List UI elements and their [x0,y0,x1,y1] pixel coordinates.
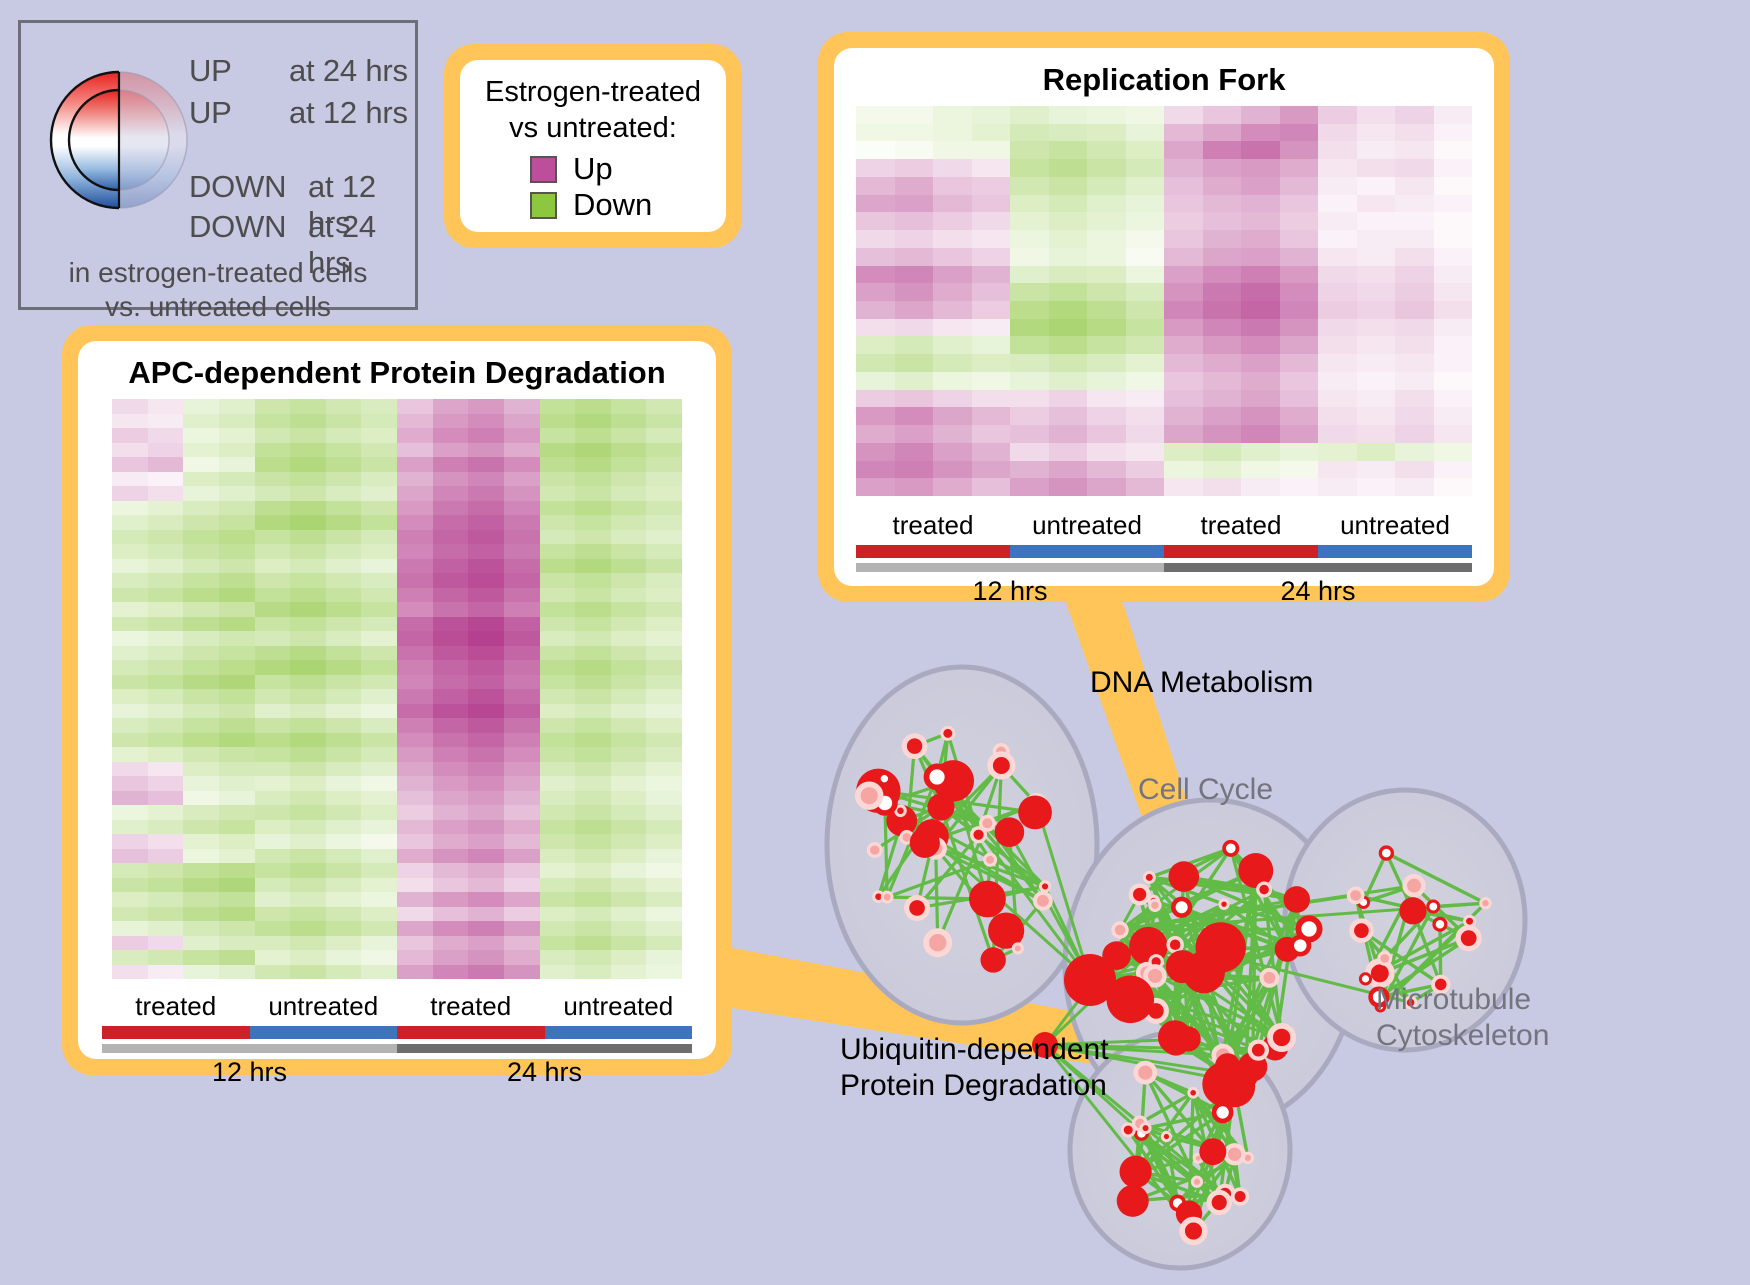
heatmap-cell [433,559,469,574]
heatmap-cell [255,747,291,762]
heatmap-cell [1203,390,1242,408]
heatmap-cell [326,617,362,632]
heatmap-cell [290,472,326,487]
heatmap-cell [219,747,255,762]
heatmap-cell [1126,425,1165,443]
heatmap-cell [1049,266,1088,284]
heatmap-cell [112,675,148,690]
heatmap-cell [183,660,219,675]
cluster-label-dna-metabolism: DNA Metabolism [1090,665,1313,701]
heatmap-cell [1318,372,1357,390]
condition-bar-segment [397,1026,545,1039]
heatmap-cell [255,762,291,777]
heatmap-cell [895,443,934,461]
heatmap-cell [1087,478,1126,496]
heatmap-cell [397,617,433,632]
heatmap-cell [646,486,682,501]
condition-bar-segment [545,1026,693,1039]
heatmap-cell [504,689,540,704]
heatmap-cell [1434,283,1473,301]
heatmap-cell [326,414,362,429]
network-node[interactable] [1434,918,1446,930]
network-node[interactable] [1158,1020,1192,1054]
heatmap-cell [646,776,682,791]
heatmap-cell [646,718,682,733]
network-node[interactable] [1399,897,1426,924]
heatmap-cell [219,892,255,907]
heatmap-cell [933,354,972,372]
network-node[interactable] [910,828,940,858]
heatmap-cell [972,266,1011,284]
network-node[interactable] [1131,886,1149,904]
heatmap-cell [646,588,682,603]
heatmap-cell [361,762,397,777]
heatmap-cell [112,617,148,632]
heatmap-cell [361,414,397,429]
heatmap-cell [148,530,184,545]
network-node[interactable] [1214,1104,1231,1121]
heatmap-cell [183,544,219,559]
heatmap-cell [255,602,291,617]
network-node[interactable] [942,727,954,739]
heatmap-cell [611,747,647,762]
heatmap-cell [290,820,326,835]
legend-title-line-1: Estrogen-treated [470,74,716,110]
heatmap-cell [1164,390,1203,408]
network-node[interactable] [1380,847,1392,859]
heatmap-cell [933,283,972,301]
heatmap-cell [397,675,433,690]
heatmap-cell [611,689,647,704]
heatmap-cell [1241,195,1280,213]
network-node[interactable] [926,931,949,954]
heatmap-cell [326,631,362,646]
heatmap-cell [1010,106,1049,124]
heatmap-cell [468,878,504,893]
heatmap-cell [895,372,934,390]
heatmap-cell [611,472,647,487]
network-node[interactable] [1144,872,1154,882]
heatmap-cell [326,457,362,472]
heatmap-cell [1049,283,1088,301]
network-node[interactable] [1146,966,1165,985]
heatmap-cell [361,747,397,762]
legend-item-down-label: Down [573,188,652,222]
heatmap-cell [1049,301,1088,319]
heatmap-cell [1010,195,1049,213]
heatmap-cell [148,559,184,574]
heatmap-cell [1357,319,1396,337]
network-node[interactable] [980,947,1005,972]
heatmap-cell [255,878,291,893]
heatmap-cell [183,733,219,748]
condition-label: treated [102,991,250,1022]
network-node[interactable] [1352,921,1372,941]
heatmap-cell [290,805,326,820]
network-node[interactable] [995,817,1025,847]
heatmap-cell [326,718,362,733]
heatmap-cell [326,486,362,501]
heatmap-cell [1087,407,1126,425]
network-node[interactable] [1196,922,1246,972]
heatmap-cell [112,515,148,530]
heatmap-cell [972,390,1011,408]
heatmap-cell [361,660,397,675]
network-node[interactable] [1292,937,1309,954]
heatmap-cell [1203,248,1242,266]
heatmap-cell [611,849,647,864]
heatmap-cell [433,965,469,980]
network-node[interactable] [1458,928,1479,949]
network-node[interactable] [927,766,948,787]
heatmap-cell [361,892,397,907]
network-node[interactable] [1220,900,1228,908]
heatmap-cell [1049,319,1088,337]
heatmap-cell [255,791,291,806]
network-node[interactable] [896,806,906,816]
network-node[interactable] [1141,1124,1150,1133]
heatmap-cell [290,950,326,965]
heatmap-cell [575,544,611,559]
heatmap-cell [397,689,433,704]
heatmap-cell [433,689,469,704]
heatmap-cell [1357,390,1396,408]
heatmap-cell [326,472,362,487]
heatmap-cell [219,936,255,951]
heatmap-cell [575,733,611,748]
heatmap-cell [575,965,611,980]
heatmap-cell [1087,425,1126,443]
network-node[interactable] [1261,970,1277,986]
network-node[interactable] [904,736,925,757]
heatmap-cell [183,776,219,791]
network-node[interactable] [1283,886,1310,913]
heatmap-cell [255,820,291,835]
heatmap-cell [1434,230,1473,248]
heatmap-cell [361,718,397,733]
network-node[interactable] [990,754,1013,777]
network-node[interactable] [1226,1145,1244,1163]
network-node[interactable] [1182,1220,1205,1243]
condition-label: untreated [545,991,693,1022]
heatmap-cell [397,718,433,733]
heatmap-cell [326,805,362,820]
network-node[interactable] [1173,899,1190,916]
heatmap-cell [361,936,397,951]
network-node[interactable] [1199,1138,1226,1165]
heatmap-cell [290,878,326,893]
down-swatch-icon [530,192,557,219]
heatmap-cell [361,950,397,965]
heatmap-cell [468,631,504,646]
heatmap-cell [540,399,576,414]
heatmap-cell [856,478,895,496]
time-bar-segment [102,1044,397,1053]
network-node[interactable] [868,844,881,857]
heatmap-cell [1049,336,1088,354]
network-node[interactable] [1136,1063,1155,1082]
network-node[interactable] [1166,950,1199,983]
heatmap-cell [148,936,184,951]
heatmap-cell [433,820,469,835]
network-node[interactable] [879,773,889,783]
network-node[interactable] [1040,882,1049,891]
network-node[interactable] [1113,923,1127,937]
network-node[interactable] [1379,952,1391,964]
heatmap-cell [326,602,362,617]
heatmap-cell [112,486,148,501]
network-node[interactable] [1035,893,1051,909]
network-node[interactable] [882,892,892,902]
network-node[interactable] [1120,1156,1152,1188]
apc-degradation-panel: APC-dependent Protein Degradation treate… [62,325,732,1075]
heatmap-cell [326,530,362,545]
heatmap-cell [1010,124,1049,142]
heatmap-cell [1203,195,1242,213]
heatmap-cell [1280,443,1319,461]
heatmap-cell [148,399,184,414]
heatmap-cell [112,457,148,472]
heatmap-cell [972,159,1011,177]
heatmap-cell [148,718,184,733]
heatmap-cell [856,124,895,142]
heatmap-cell [361,849,397,864]
heatmap-cell [895,283,934,301]
network-node[interactable] [1192,1177,1201,1186]
heatmap-cell [540,602,576,617]
heatmap-cell [468,733,504,748]
heatmap-cell [290,863,326,878]
network-node[interactable] [1270,1026,1293,1049]
heatmap-cell [397,791,433,806]
heatmap-cell [397,849,433,864]
heatmap-cell [397,805,433,820]
heatmap-cell [1087,124,1126,142]
heatmap-cell [290,907,326,922]
heatmap-cell [290,776,326,791]
heatmap-cell [504,544,540,559]
heatmap-cell [611,501,647,516]
network-node[interactable] [1360,974,1370,984]
heatmap-cell [290,921,326,936]
heatmap-cell [1357,177,1396,195]
condition-label: untreated [250,991,398,1022]
heatmap-cell [1434,425,1473,443]
network-node[interactable] [972,828,986,842]
network-node[interactable] [1209,1192,1229,1212]
heatmap-cell [1126,354,1165,372]
heatmap-cell [1318,319,1357,337]
heatmap-cell [611,921,647,936]
network-node[interactable] [1481,899,1490,908]
heatmap-cell [1010,248,1049,266]
heatmap-cell [1280,124,1319,142]
heatmap-cell [1049,195,1088,213]
heatmap-cell [255,834,291,849]
network-node[interactable] [969,881,1006,918]
heatmap-cell [933,319,972,337]
network-node[interactable] [1250,1042,1267,1059]
heatmap-cell [575,776,611,791]
heatmap-cell [856,159,895,177]
network-node[interactable] [927,793,954,820]
heatmap-cell [1049,177,1088,195]
heatmap-cell [504,443,540,458]
heatmap-cell [468,675,504,690]
heatmap-cell [148,646,184,661]
key-row-1-label: UP [189,95,232,131]
heatmap-cell [112,849,148,864]
heatmap-cell [1164,319,1203,337]
heatmap-cell [611,791,647,806]
heatmap-cell [1395,141,1434,159]
colour-key-circles [49,45,189,235]
heatmap-cell [468,892,504,907]
network-node[interactable] [1214,1066,1256,1108]
heatmap-cell [1164,354,1203,372]
heatmap-cell [611,936,647,951]
heatmap-cell [255,486,291,501]
network-node[interactable] [1189,1088,1198,1097]
heatmap-cell [290,834,326,849]
heatmap-cell [361,646,397,661]
heatmap-cell [611,675,647,690]
heatmap-cell [504,936,540,951]
heatmap-cell [255,559,291,574]
heatmap-cell [575,950,611,965]
network-node[interactable] [1224,842,1237,855]
heatmap-cell [646,733,682,748]
heatmap-cell [468,457,504,472]
condition-bar-segment [1164,545,1318,558]
network-node[interactable] [1018,795,1052,829]
heatmap-cell [361,820,397,835]
network-node[interactable] [858,784,881,807]
heatmap-cell [361,863,397,878]
heatmap-cell [1395,336,1434,354]
heatmap-cell [148,588,184,603]
heatmap-cell [856,461,895,479]
heatmap-cell [933,336,972,354]
heatmap-cell [1318,159,1357,177]
heatmap-cell [255,530,291,545]
heatmap-cell [148,515,184,530]
heatmap-cell [1395,390,1434,408]
heatmap-cell [112,428,148,443]
heatmap-cell [255,950,291,965]
network-node[interactable] [1064,954,1116,1006]
network-node[interactable] [1233,1189,1248,1204]
heatmap-cell [611,863,647,878]
heatmap-cell [540,457,576,472]
network-node[interactable] [1258,883,1271,896]
heatmap-cell [183,530,219,545]
heatmap-cell [290,965,326,980]
heatmap-cell [112,936,148,951]
heatmap-cell [575,399,611,414]
network-node[interactable] [1349,888,1363,902]
network-node[interactable] [1122,1124,1134,1136]
heatmap-cell [972,141,1011,159]
heatmap-cell [255,675,291,690]
network-node[interactable] [907,898,928,919]
heatmap-cell [972,443,1011,461]
heatmap-cell [575,921,611,936]
heatmap-cell [1434,159,1473,177]
heatmap-cell [1010,372,1049,390]
network-node[interactable] [1428,901,1439,912]
heatmap-cell [112,718,148,733]
heatmap-cell [1280,266,1319,284]
heatmap-cell [540,530,576,545]
heatmap-cell [540,834,576,849]
heatmap-cell [1164,478,1203,496]
heatmap-cell [611,617,647,632]
network-node[interactable] [1465,916,1475,926]
network-node[interactable] [1150,900,1160,910]
heatmap-cell [575,443,611,458]
heatmap-cell [468,776,504,791]
heatmap-cell [575,501,611,516]
network-node[interactable] [1013,944,1022,953]
time-label: 24 hrs [397,1057,692,1088]
heatmap-cell [433,588,469,603]
heatmap-cell [1049,407,1088,425]
heatmap-cell [219,457,255,472]
heatmap-cell [397,588,433,603]
heatmap-cell [856,354,895,372]
heatmap-cell [504,530,540,545]
heatmap-cell [290,646,326,661]
heatmap-cell [646,501,682,516]
network-node[interactable] [1405,876,1424,895]
heatmap-cell [1203,124,1242,142]
heatmap-cell [895,425,934,443]
network-node[interactable] [1168,861,1199,892]
heatmap-cell [972,195,1011,213]
network-node[interactable] [1117,1185,1149,1217]
heatmap-cell [219,602,255,617]
heatmap-cell [183,907,219,922]
network-node[interactable] [1168,938,1182,952]
network-node[interactable] [985,854,996,865]
time-color-bar [856,563,1472,572]
heatmap-cell [1280,354,1319,372]
heatmap-cell [433,834,469,849]
heatmap-cell [433,718,469,733]
heatmap-cell [1203,478,1242,496]
heatmap-cell [112,907,148,922]
heatmap-cell [148,414,184,429]
heatmap-cell [972,478,1011,496]
heatmap-cell [1126,177,1165,195]
heatmap-cell [1087,266,1126,284]
heatmap-cell [468,501,504,516]
heatmap-cell [1357,354,1396,372]
heatmap-cell [1126,443,1165,461]
heatmap-cell [290,617,326,632]
heatmap-cell [646,457,682,472]
heatmap-cell [1357,372,1396,390]
heatmap-cell [540,486,576,501]
heatmap-cell [1241,124,1280,142]
heatmap-cell [646,472,682,487]
heatmap-cell [1241,354,1280,372]
heatmap-cell [575,602,611,617]
network-node[interactable] [1162,1132,1170,1140]
heatmap-cell [397,559,433,574]
heatmap-cell [1434,478,1473,496]
